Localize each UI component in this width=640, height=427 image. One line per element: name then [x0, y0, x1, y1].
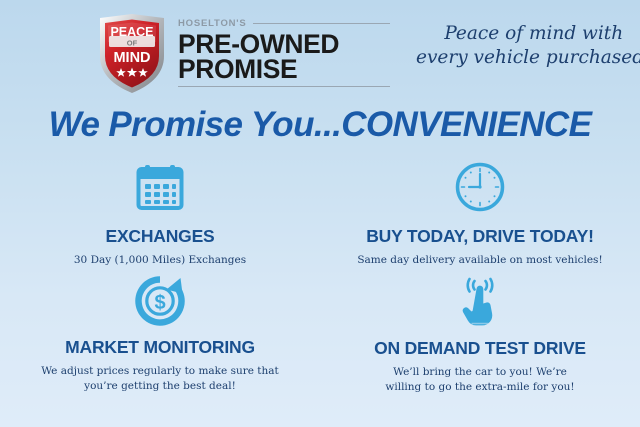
feature-buy-today-drive-today: BUY TODAY, DRIVE TODAY! Same day deliver… [320, 158, 640, 276]
brand-lockup: PEACE OF MIND HOSELTON'S PRE-OWNED [96, 12, 390, 96]
feature-title: BUY TODAY, DRIVE TODAY! [366, 226, 594, 247]
tagline-line2: every vehicle purchased! [416, 46, 640, 70]
feature-desc-line1: Same day delivery available on most vehi… [357, 253, 602, 268]
feature-desc-line1: 30 Day (1,000 Miles) Exchanges [74, 253, 246, 268]
promise-poster: PEACE OF MIND HOSELTON'S PRE-OWNED [0, 0, 640, 427]
clock-icon [454, 161, 506, 213]
poster-header: PEACE OF MIND HOSELTON'S PRE-OWNED [0, 6, 640, 104]
shield-text-of: OF [127, 39, 138, 48]
feature-icon-wrap [455, 276, 505, 328]
feature-icon-wrap [454, 158, 506, 216]
dealer-name: HOSELTON'S [178, 18, 247, 29]
wordmark-bottom-rule [178, 86, 390, 87]
dealer-row: HOSELTON'S [178, 16, 390, 30]
feature-exchanges: EXCHANGES 30 Day (1,000 Miles) Exchanges [0, 158, 320, 276]
feature-description: We adjust prices regularly to make sure … [41, 364, 279, 394]
feature-on-demand-test-drive: ON DEMAND TEST DRIVE We’ll bring the car… [320, 276, 640, 394]
feature-description: Same day delivery available on most vehi… [357, 253, 602, 268]
dollar-sign-glyph: $ [154, 292, 165, 314]
shield-text-mind: MIND [113, 50, 150, 66]
dollar-refresh-icon: $ [135, 276, 185, 326]
feature-icon-wrap: $ [135, 276, 185, 327]
peace-of-mind-shield-logo: PEACE OF MIND [96, 12, 168, 96]
promise-title-line2: PROMISE [178, 57, 386, 82]
feature-desc-line1: We adjust prices regularly to make sure … [41, 364, 279, 379]
feature-title: MARKET MONITORING [65, 337, 255, 358]
tagline-line1: Peace of mind with [416, 22, 640, 46]
feature-title: EXCHANGES [105, 226, 214, 247]
feature-desc-line2: willing to go the extra-mile for you! [385, 380, 574, 395]
shield-icon: PEACE OF MIND [96, 12, 168, 96]
wordmark-top-rule [253, 23, 391, 24]
tap-hand-icon [455, 276, 505, 328]
feature-market-monitoring: $ MARKET MONITORING We adjust prices reg… [0, 276, 320, 394]
calendar-icon [135, 162, 185, 212]
promise-wordmark: HOSELTON'S PRE-OWNED PROMISE [178, 12, 390, 87]
header-tagline: Peace of mind with every vehicle purchas… [416, 22, 640, 71]
main-headline: We Promise You...CONVENIENCE [0, 105, 640, 145]
features-grid: EXCHANGES 30 Day (1,000 Miles) Exchanges [0, 158, 640, 394]
feature-description: We’ll bring the car to you! We’re willin… [385, 365, 574, 395]
feature-description: 30 Day (1,000 Miles) Exchanges [74, 253, 246, 268]
feature-icon-wrap [135, 158, 185, 216]
feature-title: ON DEMAND TEST DRIVE [374, 338, 586, 359]
shield-text-peace: PEACE [110, 25, 153, 39]
feature-desc-line2: you’re getting the best deal! [41, 379, 279, 394]
feature-desc-line1: We’ll bring the car to you! We’re [385, 365, 574, 380]
